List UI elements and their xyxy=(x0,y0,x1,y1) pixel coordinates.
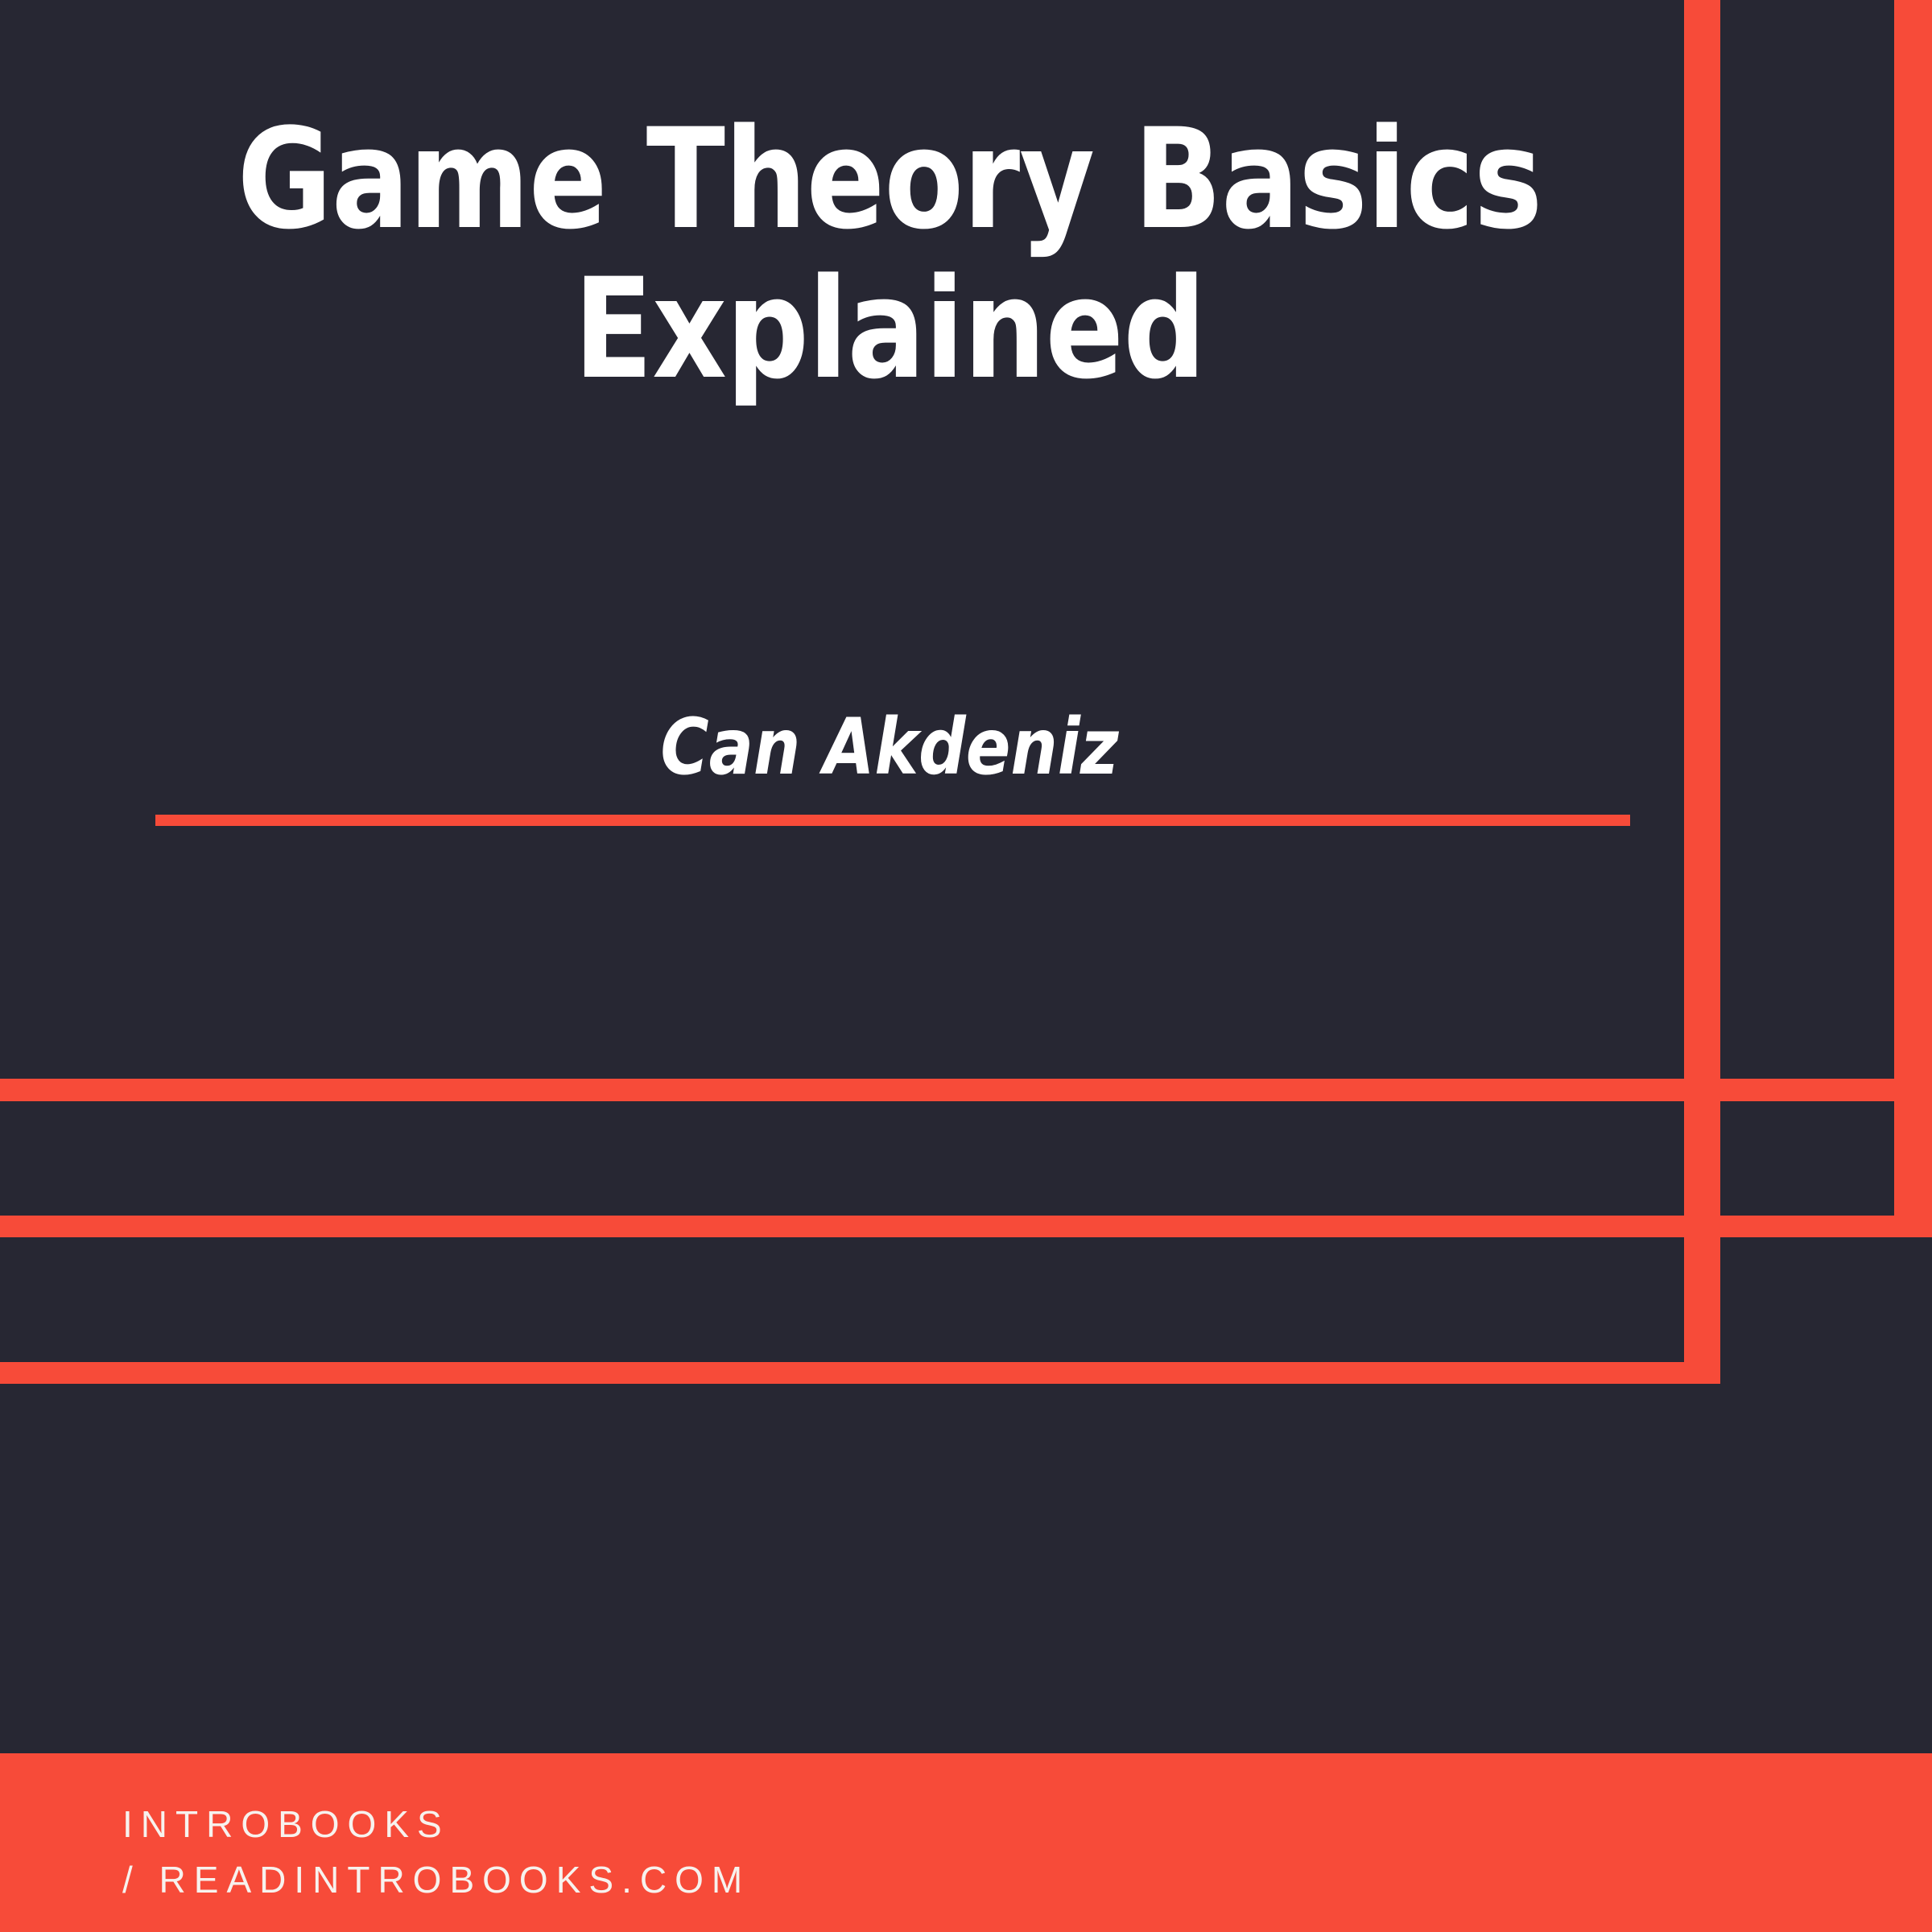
author-name: Can Akdeniz xyxy=(129,708,1651,786)
book-title: Game Theory Basics Explained xyxy=(145,105,1635,404)
author-underline-rule xyxy=(155,815,1630,826)
footer-imprint: INTROBOOKS xyxy=(122,1797,750,1852)
book-cover: Game Theory Basics Explained Can Akdeniz… xyxy=(0,0,1932,1932)
horizontal-accent-line-middle xyxy=(0,1216,1932,1237)
horizontal-accent-line-top xyxy=(0,1079,1932,1101)
footer-website: / READINTROBOOKS.COM xyxy=(122,1852,750,1908)
horizontal-accent-line-bottom xyxy=(0,1362,1720,1384)
vertical-accent-line-edge xyxy=(1894,0,1932,1237)
author-block: Can Akdeniz xyxy=(89,708,1690,786)
footer-band: INTROBOOKS / READINTROBOOKS.COM xyxy=(0,1753,1932,1932)
title-block: Game Theory Basics Explained xyxy=(89,105,1690,404)
footer-text-block: INTROBOOKS / READINTROBOOKS.COM xyxy=(122,1797,750,1908)
